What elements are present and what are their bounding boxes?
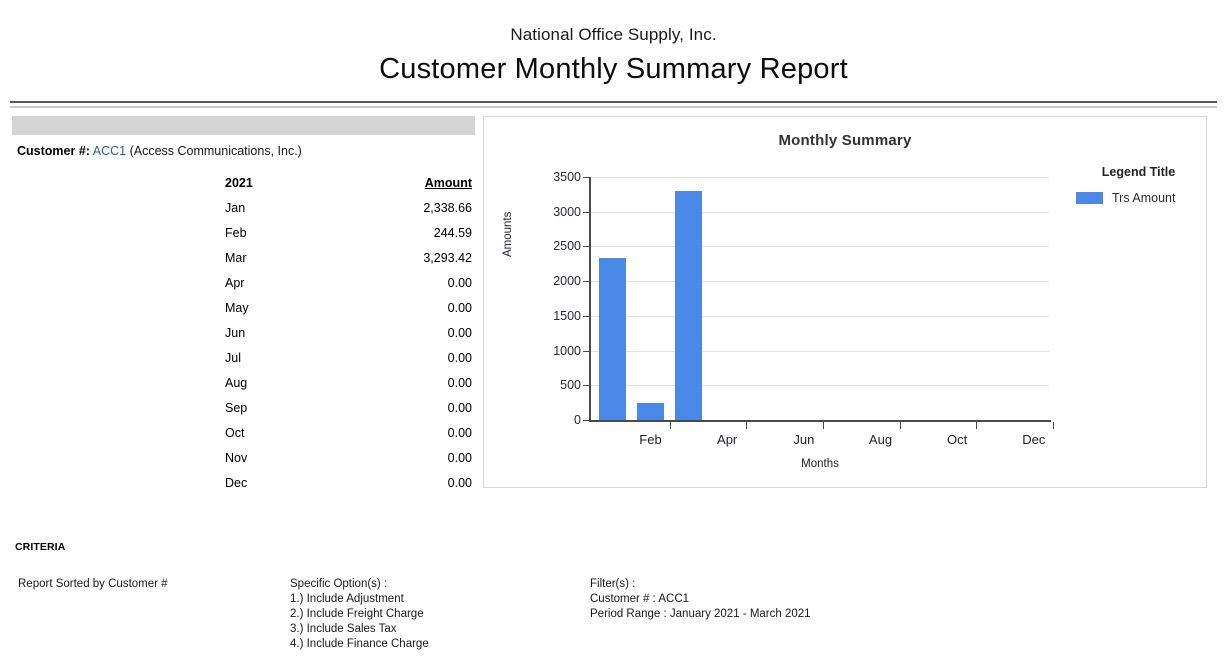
criteria-option-item: 1.) Include Adjustment: [290, 592, 429, 607]
table-row: Feb244.59: [17, 220, 482, 245]
y-axis-tick: [583, 246, 590, 247]
x-axis-tick: [746, 422, 747, 429]
criteria-options-column: Specific Option(s) : 1.) Include Adjustm…: [290, 577, 429, 652]
header-rule-primary: [10, 101, 1217, 103]
cell-month: Jul: [17, 345, 253, 370]
cell-amount: 0.00: [253, 395, 482, 420]
y-axis-title: Amounts: [502, 212, 514, 257]
y-axis-tick: [583, 316, 590, 317]
y-axis-tick: [583, 351, 590, 352]
cell-month: Feb: [17, 220, 253, 245]
y-axis-tick: [583, 177, 590, 178]
column-header-year: 2021: [17, 170, 253, 195]
legend-item[interactable]: Trs Amount: [1076, 191, 1201, 205]
cell-amount: 2,338.66: [253, 195, 482, 220]
section-band: [12, 116, 475, 135]
criteria-options-list: 1.) Include Adjustment2.) Include Freigh…: [290, 592, 429, 652]
gridline: [589, 385, 1049, 386]
criteria-filter-item: Customer # : ACC1: [590, 592, 811, 607]
x-axis-tick-label: Aug: [859, 432, 903, 447]
criteria-heading: CRITERIA: [15, 541, 65, 553]
x-axis-tick: [976, 422, 977, 429]
legend-item-label: Trs Amount: [1112, 191, 1175, 205]
cell-month: Oct: [17, 420, 253, 445]
cell-amount: 0.00: [253, 270, 482, 295]
criteria-filter-item: Period Range : January 2021 - March 2021: [590, 607, 811, 622]
cell-amount: 0.00: [253, 295, 482, 320]
table-row: Jul0.00: [17, 345, 482, 370]
page-title: Customer Monthly Summary Report: [0, 53, 1227, 86]
chart-panel: Monthly Summary 050010001500200025003000…: [483, 116, 1207, 488]
gridline: [589, 246, 1049, 247]
column-header-amount: Amount: [253, 170, 482, 195]
criteria-filters-heading: Filter(s) :: [590, 577, 811, 592]
table-header-row: 2021 Amount: [17, 170, 482, 195]
x-axis-tick: [670, 422, 671, 429]
legend-title: Legend Title: [1076, 165, 1201, 179]
y-axis-tick: [583, 212, 590, 213]
cell-amount: 0.00: [253, 470, 482, 495]
table-row: Dec0.00: [17, 470, 482, 495]
y-axis-tick: [583, 420, 590, 421]
monthly-summary-table: 2021 Amount Jan2,338.66Feb244.59Mar3,293…: [17, 170, 482, 495]
x-axis-title: Months: [589, 458, 1051, 470]
x-axis-tick-label: Jun: [782, 432, 826, 447]
plot-area: [589, 177, 1049, 420]
table-row: Mar3,293.42: [17, 245, 482, 270]
criteria-sort-text: Report Sorted by Customer #: [18, 577, 168, 592]
cell-month: Nov: [17, 445, 253, 470]
criteria-filters-list: Customer # : ACC1Period Range : January …: [590, 592, 811, 622]
cell-month: Dec: [17, 470, 253, 495]
criteria-option-item: 4.) Include Finance Charge: [290, 637, 429, 652]
gridline: [589, 177, 1049, 178]
customer-header: Customer #: ACC1 (Access Communications,…: [17, 144, 302, 158]
chart-legend: Legend Title Trs Amount: [1076, 165, 1201, 205]
cell-month: Jun: [17, 320, 253, 345]
cell-amount: 244.59: [253, 220, 482, 245]
gridline: [589, 316, 1049, 317]
cell-month: Apr: [17, 270, 253, 295]
y-axis-tick-label: 0: [539, 413, 581, 427]
x-axis-tick: [1053, 422, 1054, 429]
customer-label: Customer #:: [17, 144, 90, 158]
table-row: Nov0.00: [17, 445, 482, 470]
cell-month: May: [17, 295, 253, 320]
table-row: Jun0.00: [17, 320, 482, 345]
y-axis-tick-label: 1000: [539, 344, 581, 358]
criteria-option-item: 2.) Include Freight Charge: [290, 607, 429, 622]
chart-title: Monthly Summary: [484, 132, 1206, 149]
y-axis-tick-label: 2000: [539, 274, 581, 288]
cell-amount: 0.00: [253, 320, 482, 345]
cell-amount: 0.00: [253, 345, 482, 370]
report-header: National Office Supply, Inc. Customer Mo…: [0, 0, 1227, 86]
x-axis-tick-label: Apr: [705, 432, 749, 447]
cell-amount: 0.00: [253, 445, 482, 470]
y-axis-tick-label: 3500: [539, 170, 581, 184]
table-row: Oct0.00: [17, 420, 482, 445]
y-axis-tick-label: 500: [539, 378, 581, 392]
y-axis-tick-label: 2500: [539, 239, 581, 253]
y-axis-tick-label: 1500: [539, 309, 581, 323]
cell-month: Jan: [17, 195, 253, 220]
company-name: National Office Supply, Inc.: [0, 25, 1227, 45]
y-axis-tick: [583, 385, 590, 386]
x-axis-tick-label: Dec: [1012, 432, 1056, 447]
x-axis-tick-label: Feb: [629, 432, 673, 447]
criteria-options-heading: Specific Option(s) :: [290, 577, 429, 592]
customer-code-link[interactable]: ACC1: [93, 144, 126, 158]
bar: [637, 403, 664, 420]
legend-color-swatch: [1076, 192, 1103, 204]
cell-month: Aug: [17, 370, 253, 395]
table-row: Jan2,338.66: [17, 195, 482, 220]
gridline: [589, 212, 1049, 213]
criteria-sort-column: Report Sorted by Customer #: [18, 577, 168, 592]
cell-amount: 3,293.42: [253, 245, 482, 270]
header-rule-secondary: [10, 106, 1217, 108]
x-axis-line: [589, 420, 1051, 422]
cell-month: Sep: [17, 395, 253, 420]
table-row: Apr0.00: [17, 270, 482, 295]
bar: [675, 191, 702, 420]
gridline: [589, 351, 1049, 352]
bar: [599, 258, 626, 420]
y-axis-tick-labels: 0500100015002000250030003500: [534, 177, 581, 420]
table-row: May0.00: [17, 295, 482, 320]
x-axis-tick: [900, 422, 901, 429]
customer-name: (Access Communications, Inc.): [130, 144, 302, 158]
x-axis-tick: [823, 422, 824, 429]
table-row: Sep0.00: [17, 395, 482, 420]
criteria-filters-column: Filter(s) : Customer # : ACC1Period Rang…: [590, 577, 811, 622]
report-page: National Office Supply, Inc. Customer Mo…: [0, 0, 1227, 660]
criteria-option-item: 3.) Include Sales Tax: [290, 622, 429, 637]
x-axis-tick-label: Oct: [935, 432, 979, 447]
cell-month: Mar: [17, 245, 253, 270]
gridline: [589, 281, 1049, 282]
cell-amount: 0.00: [253, 370, 482, 395]
table-row: Aug0.00: [17, 370, 482, 395]
y-axis-tick-label: 3000: [539, 205, 581, 219]
y-axis-tick: [583, 281, 590, 282]
cell-amount: 0.00: [253, 420, 482, 445]
